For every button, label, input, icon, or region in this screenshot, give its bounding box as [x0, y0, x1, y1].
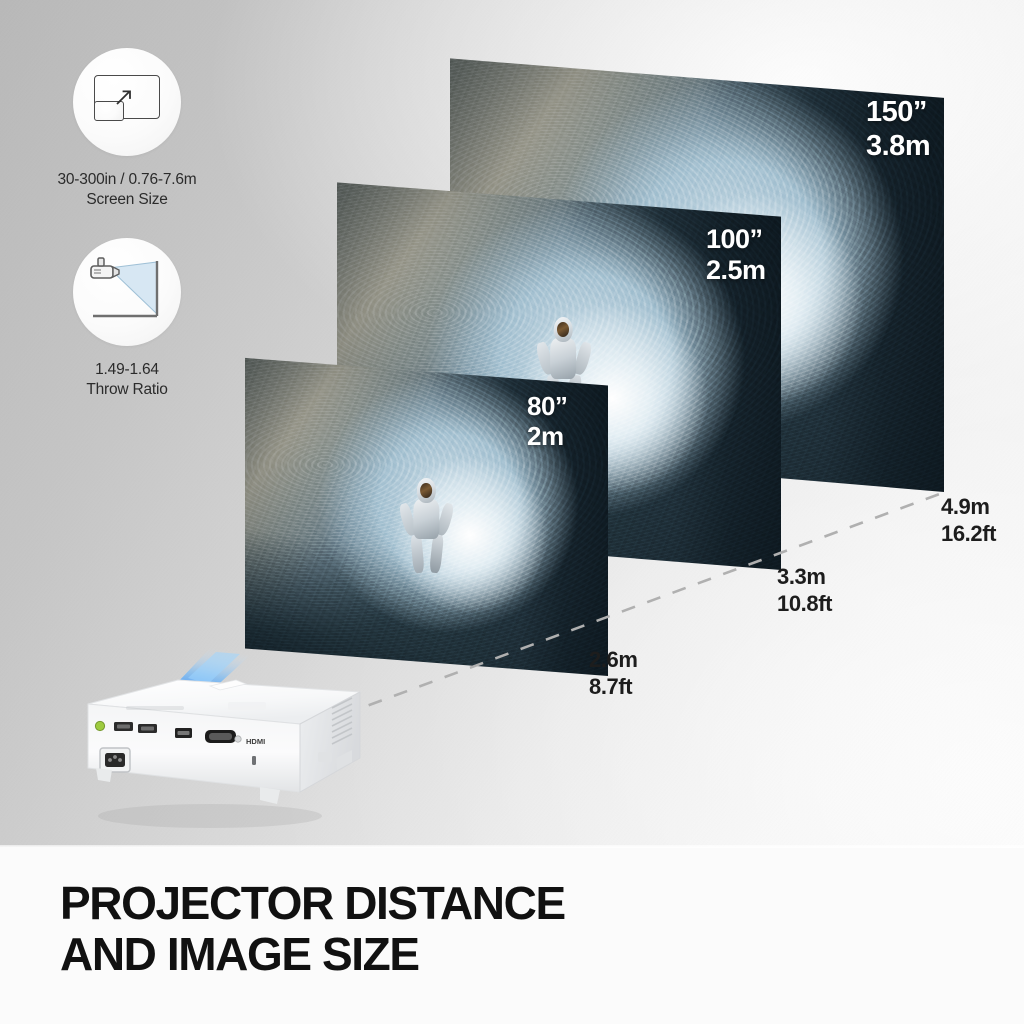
power-inlet: [100, 748, 130, 772]
spec-screen-size-caption: Screen Size: [27, 190, 227, 210]
distance-feet-80: 8.7ft: [589, 674, 638, 701]
spec-screen-size: 30-300in / 0.76-7.6m Screen Size: [27, 48, 227, 210]
spec-throw-ratio-value: 1.49-1.64: [27, 360, 227, 380]
throw-ratio-icon: [83, 252, 171, 332]
distance-label-80: 2.6m 8.7ft: [589, 647, 638, 701]
distance-feet-150: 16.2ft: [941, 521, 996, 548]
screen-size-inches-150: 150”: [866, 96, 930, 130]
distance-label-100: 3.3m 10.8ft: [777, 564, 832, 618]
distance-meters-80: 2.6m: [589, 647, 638, 674]
screen-size-icon-badge: [73, 48, 181, 156]
screen-size-inches-100: 100”: [706, 224, 766, 255]
distance-feet-100: 10.8ft: [777, 591, 832, 618]
screen-size-inches-80: 80”: [527, 391, 567, 421]
spec-throw-ratio: 1.49-1.64 Throw Ratio: [27, 238, 227, 400]
page-title-line-1: PROJECTOR DISTANCE: [60, 878, 960, 929]
product-infographic: 150” 3.8m 100” 2.5m 80: [0, 0, 1024, 1024]
page-title-line-2: AND IMAGE SIZE: [60, 929, 960, 980]
projector-device: HDMI: [60, 640, 390, 840]
screen-label-80: 80” 2m: [527, 391, 567, 451]
throw-ratio-icon-badge: [73, 238, 181, 346]
expand-arrow-icon: [115, 88, 133, 106]
hdmi-label: HDMI: [246, 737, 265, 746]
distance-label-150: 4.9m 16.2ft: [941, 494, 996, 548]
spec-throw-ratio-caption: Throw Ratio: [27, 380, 227, 400]
screen-size-meters-150: 3.8m: [866, 130, 930, 164]
screen-label-100: 100” 2.5m: [706, 224, 766, 287]
screen-size-meters-80: 2m: [527, 421, 567, 451]
distance-meters-150: 4.9m: [941, 494, 996, 521]
astronaut-figure: [405, 478, 449, 574]
kensington-lock-slot: [252, 756, 256, 765]
screen-size-meters-100: 2.5m: [706, 255, 766, 286]
screen-label-150: 150” 3.8m: [866, 96, 930, 163]
page-title: PROJECTOR DISTANCE AND IMAGE SIZE: [60, 878, 960, 979]
distance-meters-100: 3.3m: [777, 564, 832, 591]
spec-screen-size-value: 30-300in / 0.76-7.6m: [27, 170, 227, 190]
